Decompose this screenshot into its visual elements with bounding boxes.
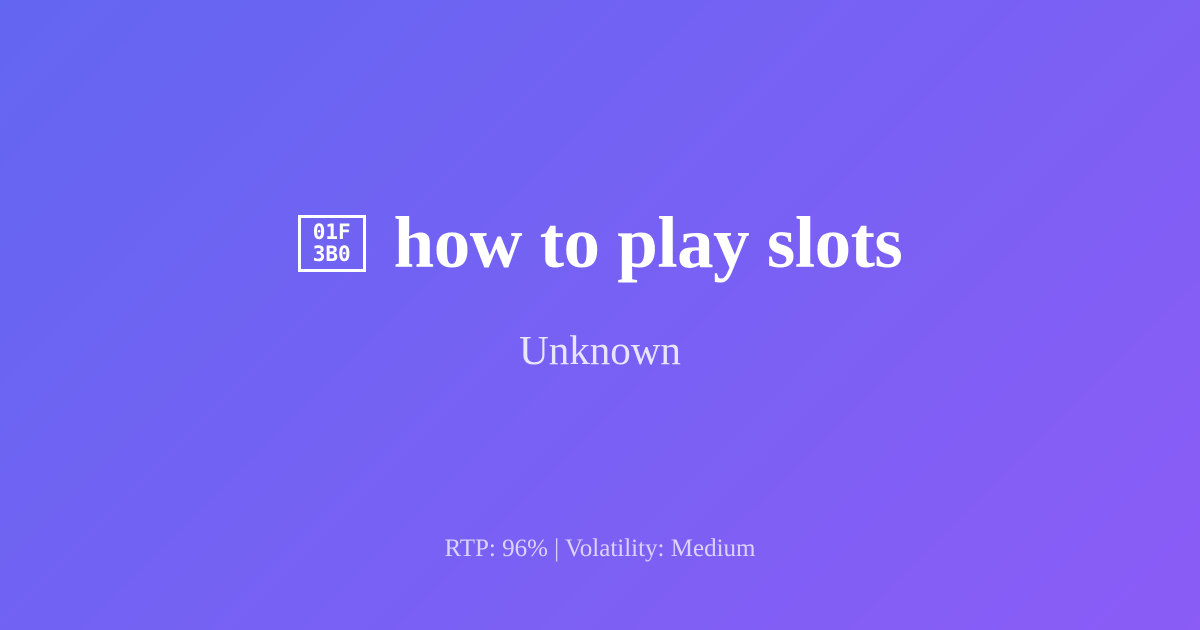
og-share-card: 01F 3B0 how to play slots Unknown RTP: 9…: [0, 0, 1200, 630]
tofu-codepoint-top: 01F: [313, 221, 351, 243]
page-title-text: how to play slots: [394, 205, 903, 282]
slot-machine-icon: 01F 3B0: [298, 215, 366, 272]
tofu-codepoint-bottom: 3B0: [313, 243, 351, 265]
page-title: 01F 3B0 how to play slots: [298, 205, 903, 282]
page-subtitle: Unknown: [519, 328, 681, 373]
card-footer: RTP: 96% | Volatility: Medium: [0, 534, 1200, 564]
game-stats-line: RTP: 96% | Volatility: Medium: [445, 534, 756, 564]
